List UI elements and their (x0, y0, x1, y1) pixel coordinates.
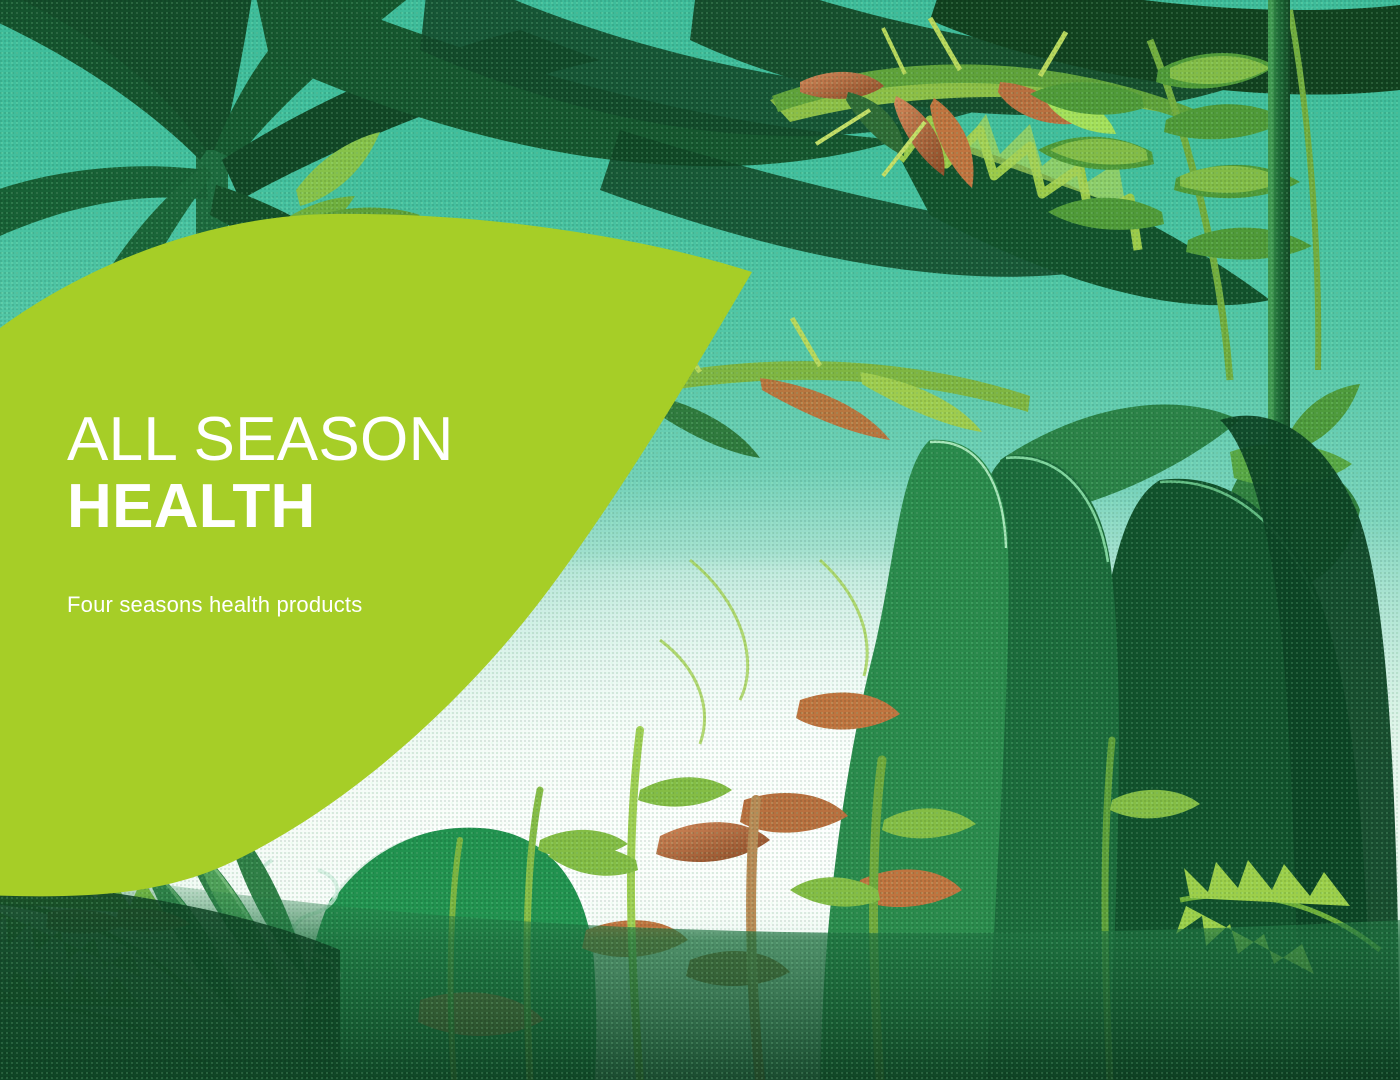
title-line-2: HEALTH (67, 472, 537, 542)
subtitle: Four seasons health products (67, 592, 537, 618)
poster-canvas: ALL SEASON HEALTH Four seasons health pr… (0, 0, 1400, 1080)
badge-text-block: ALL SEASON HEALTH Four seasons health pr… (67, 408, 537, 618)
title-line-1: ALL SEASON (67, 408, 537, 472)
leaf-badge: ALL SEASON HEALTH Four seasons health pr… (0, 0, 820, 920)
